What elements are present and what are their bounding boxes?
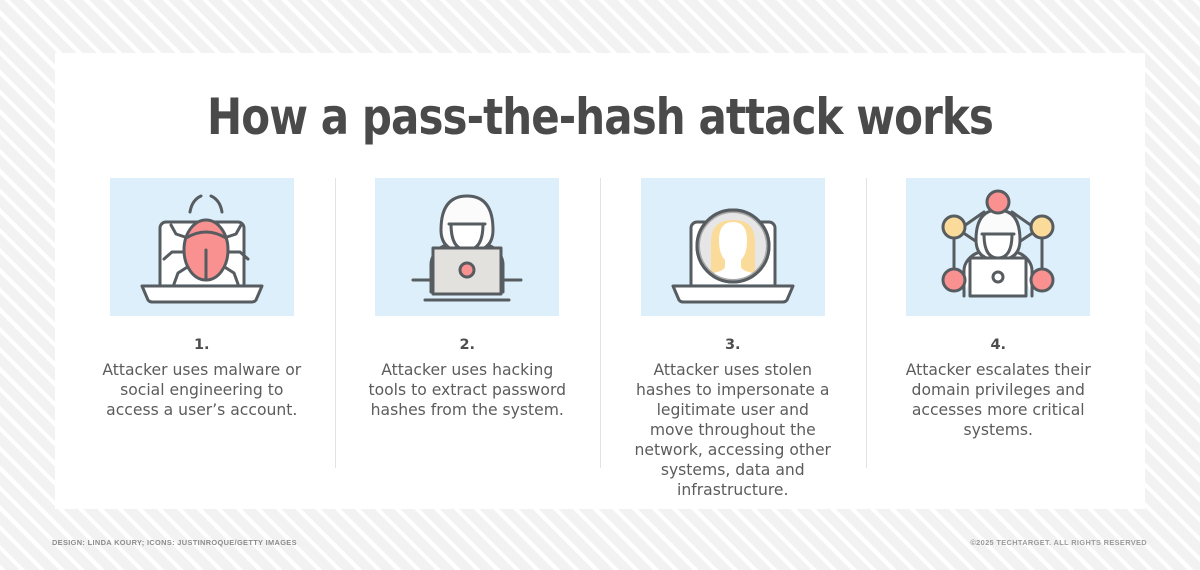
- hooded-hacker-laptop-icon: [387, 188, 547, 306]
- steps-row: 1. Attacker uses malware or social engin…: [69, 178, 1131, 500]
- step-1: 1. Attacker uses malware or social engin…: [69, 178, 335, 420]
- step-2-text: Attacker uses hacking tools to extract p…: [367, 360, 567, 420]
- infographic-stage: How a pass-the-hash attack works: [0, 0, 1200, 570]
- step-4-icon-panel: [906, 178, 1090, 316]
- step-3-text: Attacker uses stolen hashes to impersona…: [633, 360, 833, 500]
- infographic-card: How a pass-the-hash attack works: [55, 53, 1145, 509]
- step-1-number: 1.: [194, 338, 210, 353]
- step-1-icon-panel: [110, 178, 294, 316]
- step-3: 3. Attacker uses stolen hashes to impers…: [600, 178, 866, 500]
- step-4: 4. Attacker escalates their domain privi…: [866, 178, 1132, 440]
- step-4-number: 4.: [990, 338, 1006, 353]
- hooded-hacker-network-icon: [918, 188, 1078, 306]
- step-1-text: Attacker uses malware or social engineer…: [102, 360, 302, 420]
- copyright-notice: ©2025 TECHTARGET. ALL RIGHTS RESERVED: [970, 538, 1147, 547]
- laptop-with-bug-icon: [122, 188, 282, 306]
- step-4-text: Attacker escalates their domain privileg…: [898, 360, 1098, 440]
- step-3-icon-panel: [641, 178, 825, 316]
- page-title: How a pass-the-hash attack works: [142, 88, 1058, 146]
- step-2-number: 2.: [459, 338, 475, 353]
- step-2-icon-panel: [375, 178, 559, 316]
- design-credit: DESIGN: LINDA KOURY; ICONS: JUSTINROQUE/…: [52, 538, 297, 547]
- laptop-user-avatar-icon: [653, 188, 813, 306]
- step-3-number: 3.: [725, 338, 741, 353]
- step-2: 2. Attacker uses hacking tools to extrac…: [335, 178, 601, 420]
